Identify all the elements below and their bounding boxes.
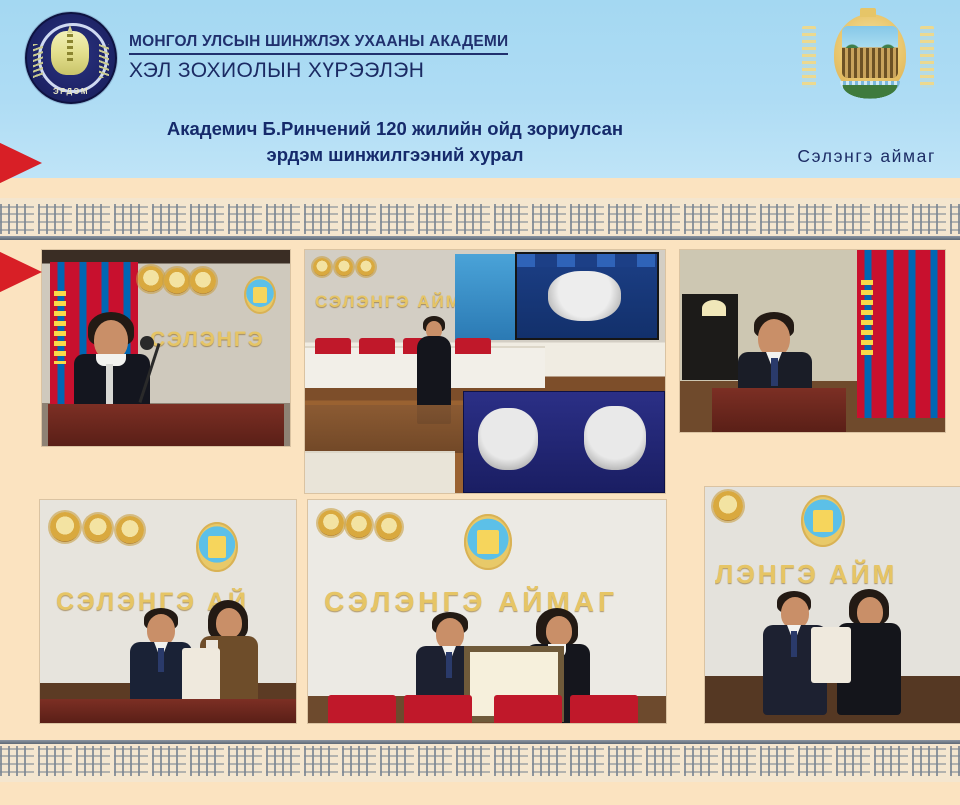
mongolia-flag-icon [879, 250, 901, 418]
subregion-label: Сэлэнгэ аймаг [797, 146, 936, 167]
border-rule-bottom [0, 740, 960, 744]
red-triangle-arrow-icon-bottom [0, 250, 42, 294]
hall-chair [570, 695, 638, 723]
top-meander-border [0, 198, 960, 240]
mongolia-flag-icon [901, 250, 923, 418]
podium [48, 404, 284, 446]
photo-award-presentation-left: СЭЛЭНГЭ АЙ [40, 500, 296, 723]
meander-pattern-top-overlay [0, 204, 960, 234]
microphone-head-icon [140, 336, 154, 350]
photo1-wall-text: СЭЛЭНГЭ [150, 328, 284, 352]
selenge-coat-of-arms-icon [798, 8, 938, 103]
hall-chair [328, 695, 396, 723]
wall-medal-icon [318, 510, 344, 536]
photo6-wall-text: ЛЭНГЭ АЙМ [715, 559, 955, 590]
hall-chair [494, 695, 562, 723]
photo4-table [40, 699, 296, 723]
hall-chair [455, 338, 491, 354]
front-desk [305, 451, 455, 493]
banner-portrait [584, 406, 646, 470]
wall-medal-icon [313, 258, 331, 276]
banner-portrait [478, 408, 538, 470]
title-line-1: Академич Б.Ринчений 120 жилийн ойд зориу… [167, 118, 623, 139]
arms-landscape [842, 26, 898, 78]
wall-medal-icon [346, 512, 372, 538]
photo2-blue-flags [455, 254, 515, 340]
wall-medal-icon [190, 268, 216, 294]
photo-man-speaking-at-podium [680, 250, 945, 432]
event-banner [463, 391, 665, 493]
photo-award-presentation-right: ЛЭНГЭ АЙМ [705, 487, 960, 723]
state-emblem-icon [801, 495, 845, 547]
photo-woman-speaking-at-podium: СЭЛЭНГЭ [42, 250, 290, 446]
portrait-image [548, 271, 621, 321]
organization-name: МОНГОЛ УЛСЫН ШИНЖЛЭХ УХААНЫ АКАДЕМИ ХЭЛ … [129, 33, 508, 84]
presentation-screen [515, 252, 659, 340]
mongolian-script-right [920, 26, 934, 88]
border-rule-top [0, 236, 960, 240]
title-line-2: эрдэм шинжилгээний хурал [267, 144, 524, 165]
hall-chair [315, 338, 351, 354]
state-emblem-icon [244, 276, 276, 314]
photo-conference-hall-presenter: СЭЛЭНГЭ АЙМАГ [305, 250, 665, 493]
hall-chair [404, 695, 472, 723]
selenge-flag-icon [475, 254, 495, 340]
wall-medal-icon [138, 266, 164, 292]
organization-line-1: МОНГОЛ УЛСЫН ШИНЖЛЭХ УХААНЫ АКАДЕМИ [129, 33, 508, 56]
academy-logo-block: ЭРДЭМ МОНГОЛ УЛСЫН ШИНЖЛЭХ УХААНЫ АКАДЕМ… [25, 12, 508, 104]
seal-wreath-right [99, 44, 109, 78]
wall-medal-icon [376, 514, 402, 540]
wall-medal-icon [164, 268, 190, 294]
wall-medal-icon [116, 516, 144, 544]
gift-bag [811, 627, 851, 683]
arms-wreath [838, 85, 902, 101]
mongolia-flag-icon [923, 250, 945, 418]
academy-seal-icon: ЭРДЭМ [25, 12, 117, 104]
wall-medal-icon [50, 512, 80, 542]
poster-root: ЭРДЭМ МОНГОЛ УЛСЫН ШИНЖЛЭХ УХААНЫ АКАДЕМ… [0, 0, 960, 805]
mongolian-script-left [802, 26, 816, 88]
lamp-icon [702, 300, 726, 316]
selenge-flag-icon [455, 254, 475, 340]
bottom-meander-border [0, 740, 960, 782]
podium [712, 388, 846, 432]
seal-label: ЭРДЭМ [27, 87, 115, 96]
arms-field-rays [842, 48, 898, 78]
photo2-wall-text: СЭЛЭНГЭ АЙМАГ [315, 292, 475, 312]
photo-certificate-presentation-center: СЭЛЭНГЭ АЙМАГ [308, 500, 666, 723]
organization-line-2: ХЭЛ ЗОХИОЛЫН ХҮРЭЭЛЭН [129, 57, 508, 83]
state-emblem-icon [464, 514, 512, 570]
wall-medal-icon [84, 514, 112, 542]
photo3-flags [857, 250, 945, 418]
selenge-flag-icon [495, 254, 515, 340]
soyombo-icon [67, 34, 73, 64]
screen-header-bar [517, 254, 657, 267]
meander-pattern-bottom-overlay [0, 746, 960, 776]
wall-medal-icon [357, 258, 375, 276]
arms-crown [860, 8, 876, 17]
wall-medal-icon [713, 491, 743, 521]
gift-bag [182, 648, 220, 702]
page-title: Академич Б.Ринчений 120 жилийн ойд зориу… [0, 116, 790, 169]
photo5-wall-text: СЭЛЭНГЭ АЙМАГ [324, 586, 660, 618]
seal-wreath-left [33, 44, 43, 78]
poster-header: ЭРДЭМ МОНГОЛ УЛСЫН ШИНЖЛЭХ УХААНЫ АКАДЕМ… [0, 0, 960, 178]
state-emblem-icon [196, 522, 238, 572]
hall-chair [359, 338, 395, 354]
wall-medal-icon [335, 258, 353, 276]
